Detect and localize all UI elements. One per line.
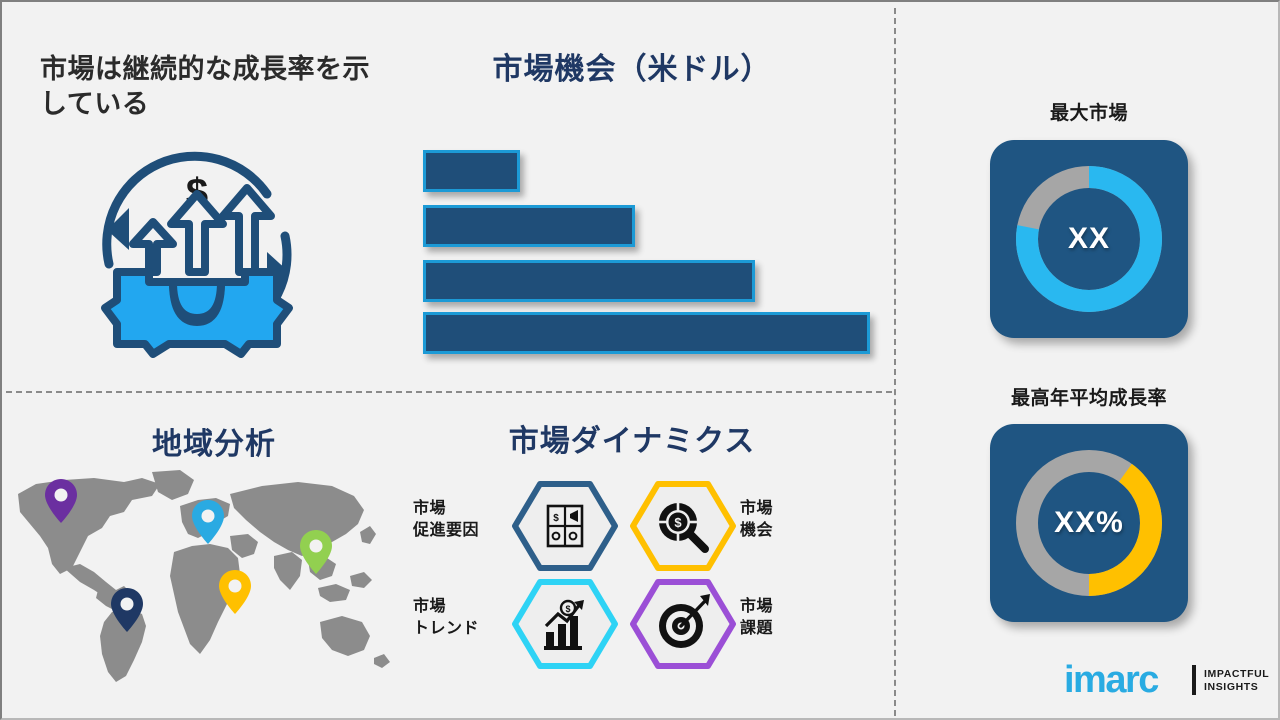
svg-text:$: $ xyxy=(553,513,559,524)
pin-north-america xyxy=(44,478,78,524)
bar-4 xyxy=(423,312,870,354)
dynamics-item-trends[interactable]: 市場 トレンド $ xyxy=(404,578,624,670)
pin-east-asia xyxy=(299,529,333,575)
svg-text:$: $ xyxy=(565,604,570,614)
largest-market-title: 最大市場 xyxy=(959,98,1219,125)
market-dynamics-title: 市場ダイナミクス xyxy=(462,424,802,460)
logo-tagline: IMPACTFUL INSIGHTS xyxy=(1204,668,1269,694)
logo-divider xyxy=(1192,665,1196,695)
largest-market-card: XX xyxy=(990,140,1188,338)
dynamics-item-drivers[interactable]: 市場 促進要因 $ xyxy=(404,480,624,572)
world-map xyxy=(2,464,402,689)
dynamics-item-opportunities-label: 市場 機会 xyxy=(740,498,836,541)
dynamics-item-trends-hex: $ xyxy=(510,578,620,670)
growth-title: 市場は継続的な成長率を示している xyxy=(40,52,390,121)
imarc-logo: imarc IMPACTFUL INSIGHTS xyxy=(1064,657,1264,707)
highest-cagr-value: XX% xyxy=(990,506,1188,540)
opportunity-title: 市場機会（米ドル） xyxy=(422,52,842,88)
opportunity-bar-chart xyxy=(420,146,880,361)
pin-east-africa xyxy=(218,569,252,615)
dynamics-item-challenges-hex xyxy=(628,578,738,670)
dynamics-item-challenges-label: 市場 課題 xyxy=(740,596,836,639)
bar-2 xyxy=(423,205,635,247)
market-dynamics-grid: 市場 促進要因 $ xyxy=(404,480,844,675)
pin-europe xyxy=(191,499,225,545)
bar-3 xyxy=(423,260,755,302)
highest-cagr-title: 最高年平均成長率 xyxy=(959,383,1219,410)
regional-analysis-title: 地域分析 xyxy=(152,427,276,463)
largest-market-value: XX xyxy=(990,222,1188,256)
pin-south-america xyxy=(110,587,144,633)
dynamics-item-drivers-label: 市場 促進要因 xyxy=(413,498,509,541)
dynamics-item-drivers-hex: $ xyxy=(510,480,620,572)
highest-cagr-card: XX% xyxy=(990,424,1188,622)
vertical-divider xyxy=(894,8,896,716)
svg-text:$: $ xyxy=(674,515,682,530)
horizontal-divider xyxy=(6,391,892,393)
dynamics-item-trends-label: 市場 トレンド xyxy=(413,596,509,639)
slide-canvas: 市場は継続的な成長率を示している $ 市場機会（米ドル） 地域分析 xyxy=(0,0,1280,720)
dynamics-item-opportunities[interactable]: $ 市場 機会 xyxy=(624,480,844,572)
bar-1 xyxy=(423,150,520,192)
dynamics-item-challenges[interactable]: 市場 課題 xyxy=(624,578,844,670)
dynamics-item-opportunities-hex: $ xyxy=(628,480,738,572)
growth-cycle-gear-icon: $ xyxy=(77,132,317,367)
logo-wordmark: imarc xyxy=(1064,661,1158,699)
